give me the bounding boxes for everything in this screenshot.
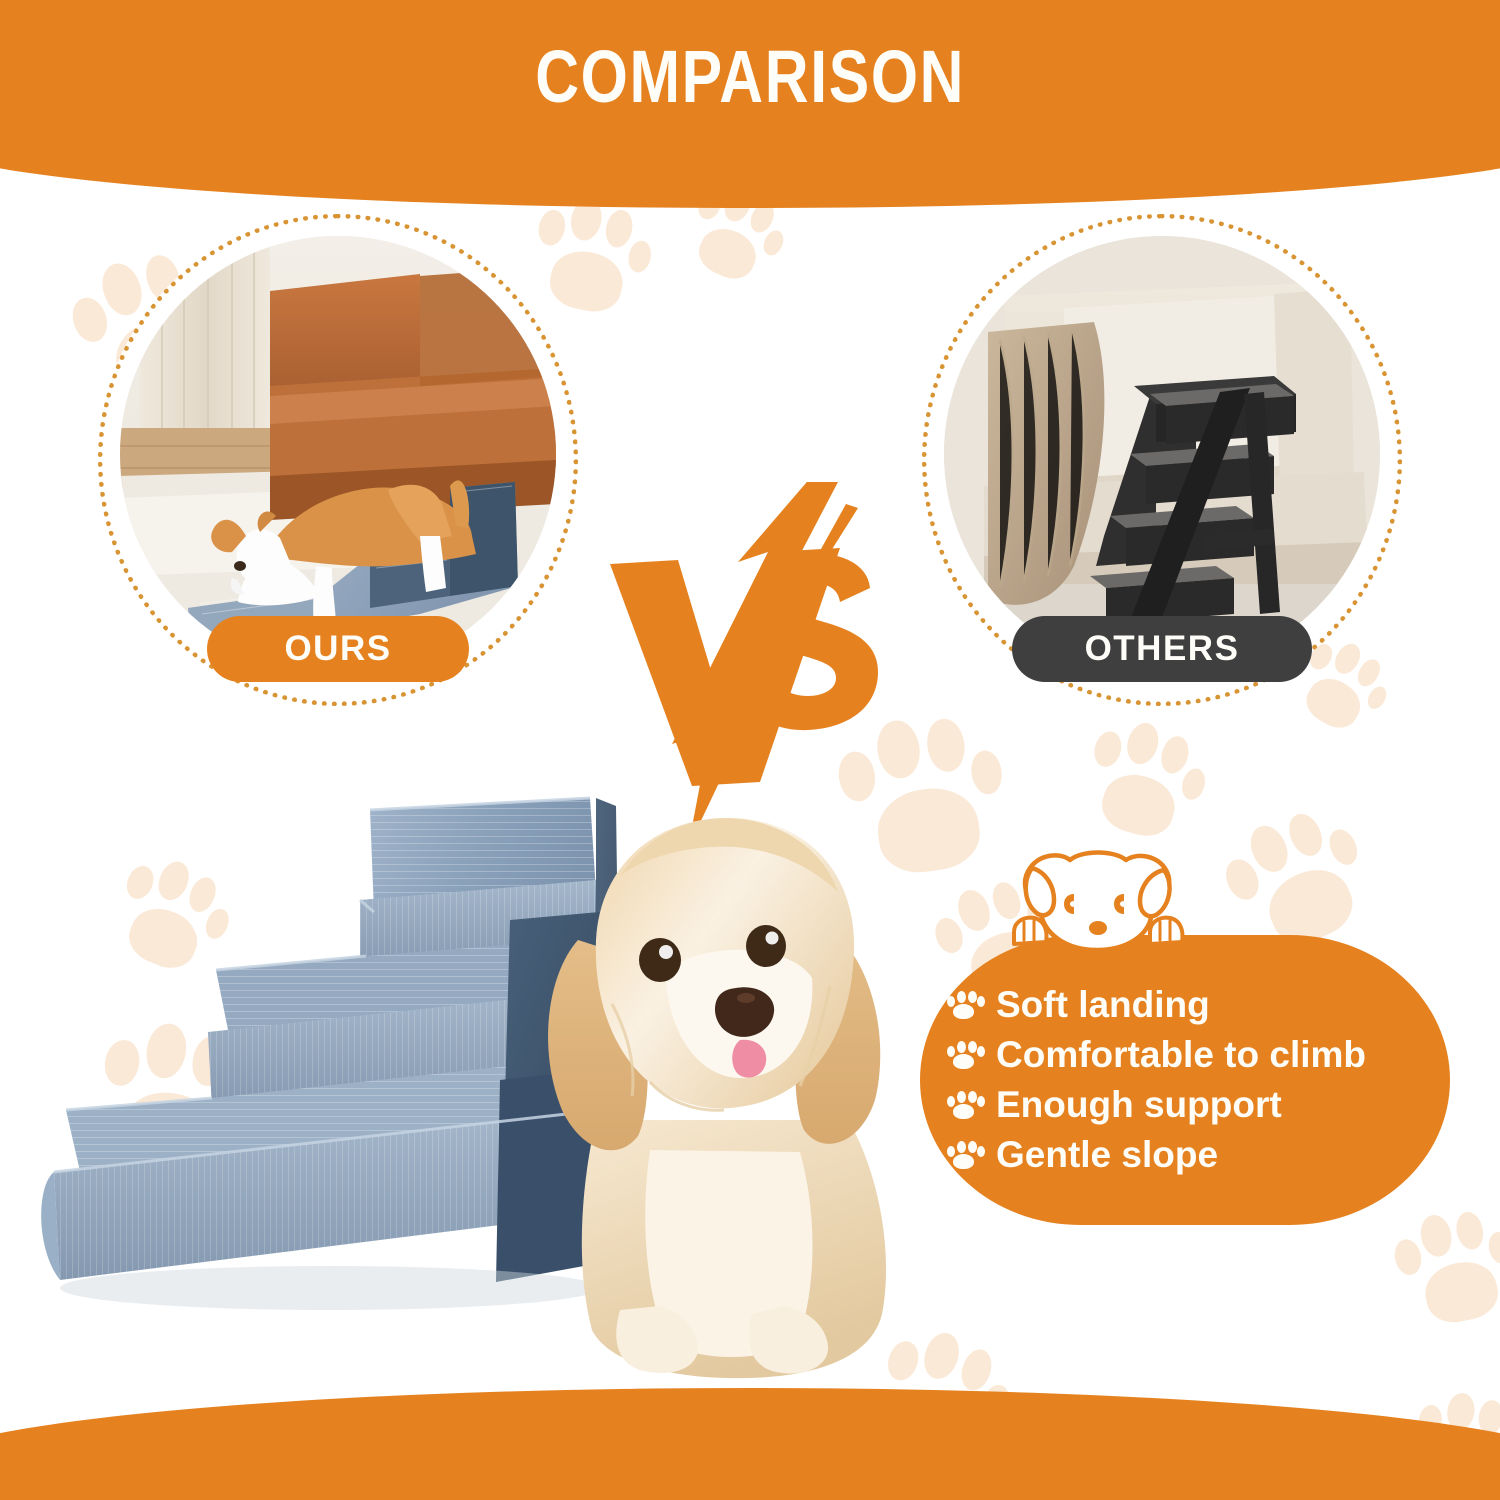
hero-dog-image <box>500 790 960 1390</box>
feature-label: Gentle slope <box>996 1134 1218 1176</box>
others-product-photo <box>944 236 1380 672</box>
bottom-banner <box>0 1388 1500 1500</box>
paw-print-icon <box>1387 1198 1500 1336</box>
versus-icon <box>600 482 900 842</box>
page-title: COMPARISON <box>535 34 965 119</box>
feature-panel: Soft landing Comfortable to climb Enough… <box>920 935 1450 1225</box>
feature-item: Soft landing <box>946 984 1440 1026</box>
badge-others: OTHERS <box>1012 616 1312 682</box>
paw-print-icon <box>1074 707 1212 851</box>
comparison-infographic: COMPARISON <box>0 0 1500 1500</box>
top-banner: COMPARISON <box>0 0 1500 208</box>
paw-icon <box>946 1039 980 1071</box>
paw-icon <box>946 989 980 1021</box>
feature-item: Gentle slope <box>946 1134 1440 1176</box>
feature-item: Comfortable to climb <box>946 1034 1440 1076</box>
feature-item: Enough support <box>946 1084 1440 1126</box>
feature-label: Soft landing <box>996 984 1210 1026</box>
paw-icon <box>946 1089 980 1121</box>
comparison-card-ours[interactable]: OURS <box>98 214 578 706</box>
comparison-row: OURS <box>0 214 1500 714</box>
feature-label: Enough support <box>996 1084 1282 1126</box>
peeking-dog-icon <box>1002 838 1192 958</box>
badge-ours: OURS <box>207 616 469 682</box>
ours-product-photo <box>120 236 556 672</box>
feature-label: Comfortable to climb <box>996 1034 1366 1076</box>
comparison-card-others[interactable]: OTHERS <box>922 214 1402 706</box>
paw-icon <box>946 1139 980 1171</box>
